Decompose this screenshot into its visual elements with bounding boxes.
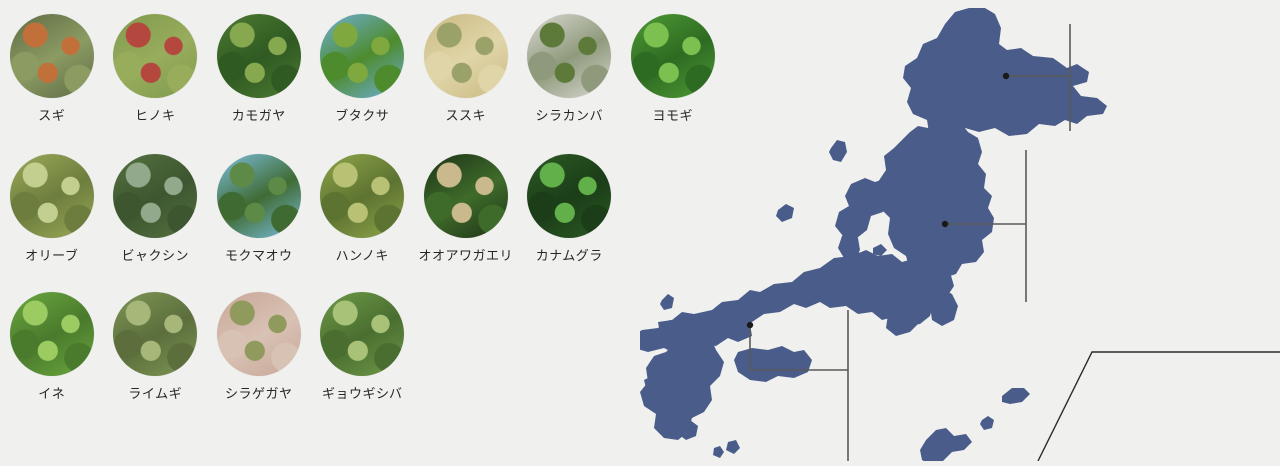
plant-label: ヒノキ — [135, 109, 176, 122]
plant-card[interactable]: ライムギ — [104, 292, 208, 400]
plant-photo — [217, 154, 301, 238]
plant-card[interactable]: ヒノキ — [104, 14, 208, 122]
plant-photo — [527, 154, 611, 238]
plant-label: シラゲガヤ — [225, 387, 293, 400]
plant-photo — [320, 154, 404, 238]
shikoku-island — [734, 346, 812, 382]
plant-label: イネ — [38, 387, 65, 400]
tsushima-island — [660, 294, 674, 310]
plant-label: シラカンバ — [535, 109, 603, 122]
amami-island — [1002, 388, 1030, 404]
yakushima-island — [713, 446, 724, 458]
plant-photo — [320, 292, 404, 376]
japan-map: カモガヤハンノキヨモギシラカンバイネライムギシラゲガヤギョウギシバ スギヒノキカ… — [640, 0, 1280, 461]
plant-photo — [113, 14, 197, 98]
plant-photo — [424, 14, 508, 98]
plant-row-1: スギヒノキカモガヤブタクサススキシラカンバヨモギ — [0, 14, 725, 122]
plant-card[interactable]: カモガヤ — [207, 14, 311, 122]
plant-photo — [10, 154, 94, 238]
tanegashima-island — [726, 440, 740, 454]
noto-peninsula — [829, 140, 847, 162]
plant-label: ハンノキ — [336, 249, 389, 262]
plant-card[interactable]: シラカンバ — [518, 14, 622, 122]
plant-card[interactable]: ハンノキ — [311, 154, 415, 262]
plant-label: ギョウギシバ — [322, 387, 403, 400]
plant-card[interactable]: ススキ — [414, 14, 518, 122]
plant-card[interactable]: モクマオウ — [207, 154, 311, 262]
plant-photo — [113, 154, 197, 238]
plant-card[interactable]: オリーブ — [0, 154, 104, 262]
plant-label: ライムギ — [128, 387, 182, 400]
plant-photo — [527, 14, 611, 98]
honshu-marker — [942, 221, 948, 227]
plant-card[interactable]: スギ — [0, 14, 104, 122]
plant-label: ススキ — [445, 109, 486, 122]
plant-photo — [320, 14, 404, 98]
plant-label: ブタクサ — [335, 109, 389, 122]
plant-photo — [10, 292, 94, 376]
plant-card[interactable]: ブタクサ — [311, 14, 415, 122]
tokunoshima-island — [980, 416, 994, 430]
plant-label: ビャクシン — [121, 249, 189, 262]
plant-label: モクマオウ — [225, 249, 293, 262]
plant-label: カナムグラ — [536, 249, 603, 262]
okinawa-inset-frame — [1038, 352, 1280, 461]
okinawa-main-island — [920, 428, 972, 461]
plant-card[interactable]: カナムグラ — [518, 154, 622, 262]
plant-card[interactable]: オオアワガエリ — [414, 154, 518, 262]
small-island-2 — [873, 244, 887, 256]
plant-row-3: イネライムギシラゲガヤギョウギシバ — [0, 292, 414, 400]
kyushu-marker — [747, 322, 753, 328]
plant-card[interactable]: シラゲガヤ — [207, 292, 311, 400]
plant-label: オリーブ — [25, 249, 78, 262]
honshu-tohoku — [878, 116, 994, 278]
plant-photo — [113, 292, 197, 376]
japan-map-svg — [640, 0, 1280, 461]
plant-row-2: オリーブビャクシンモクマオウハンノキオオアワガエリカナムグラ — [0, 154, 621, 262]
plant-label: カモガヤ — [232, 109, 286, 122]
plant-card[interactable]: ギョウギシバ — [311, 292, 415, 400]
plant-label: スギ — [38, 109, 65, 122]
plant-label: オオアワガエリ — [418, 249, 513, 262]
plant-photo — [217, 14, 301, 98]
plant-card[interactable]: イネ — [0, 292, 104, 400]
plant-card[interactable]: ビャクシン — [104, 154, 208, 262]
plant-photo — [424, 154, 508, 238]
sado-island — [776, 204, 794, 222]
plant-photo — [217, 292, 301, 376]
hokkaido-marker — [1003, 73, 1009, 79]
plant-photo — [10, 14, 94, 98]
pollen-distribution-infographic: スギヒノキカモガヤブタクサススキシラカンバヨモギ オリーブビャクシンモクマオウハ… — [0, 0, 1280, 461]
